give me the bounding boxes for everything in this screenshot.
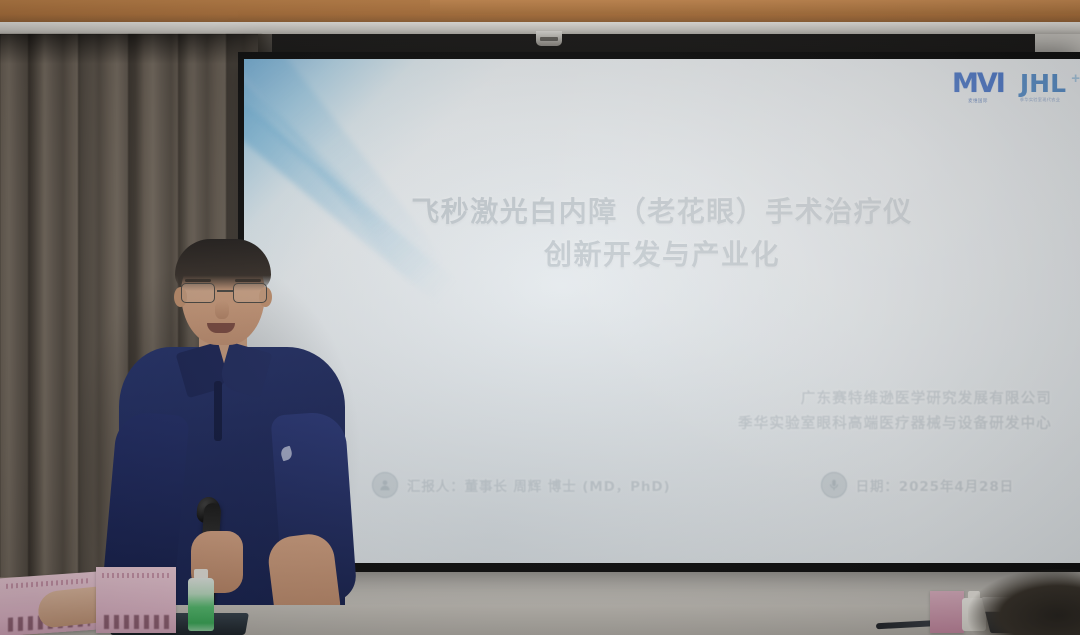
curtain-shadow	[0, 34, 262, 64]
mvi-logo: MVI 麦维国际	[952, 71, 1004, 104]
slide-logos: MVI 麦维国际 JHL 季华实验室现代农业	[952, 71, 1066, 104]
presenter-placket	[214, 381, 222, 441]
attendee-right	[968, 569, 1080, 635]
glasses-icon	[179, 283, 269, 303]
presenter-nose	[215, 301, 229, 319]
ceiling-sensor-icon	[536, 31, 562, 46]
jhl-logo: JHL 季华实验室现代农业	[1020, 71, 1066, 103]
conference-room: MVI 麦维国际 JHL 季华实验室现代农业 飞秒激光白内障（老花眼）手术治疗仪…	[0, 0, 1080, 635]
jhl-logo-sub: 季华实验室现代农业	[1020, 97, 1060, 103]
jhl-logo-mark: JHL	[1020, 71, 1066, 96]
presenter-brow-right	[235, 279, 261, 282]
date-label: 日期：2025年4月28日	[856, 475, 1014, 495]
presenter-label: 汇报人：董事长 周辉 博士 (MD，PhD)	[407, 475, 671, 495]
ceiling-wood-panel-right	[430, 0, 1080, 14]
mvi-logo-mark: MVI	[952, 71, 1004, 97]
organization-line-2: 季华实验室眼科高端医疗器械与设备研发中心	[738, 412, 1052, 437]
organization-line-1: 广东赛特维逊医学研究发展有限公司	[738, 387, 1052, 412]
foreground-table	[0, 563, 1080, 635]
slide-title-line-1: 飞秒激光白内障（老花眼）手术治疗仪	[244, 191, 1080, 234]
microphone-icon	[821, 472, 847, 498]
presenter-brow-left	[185, 279, 211, 282]
presenter-meta: 汇报人：董事长 周辉 博士 (MD，PhD)	[372, 472, 671, 498]
date-meta: 日期：2025年4月28日	[821, 472, 1014, 498]
slide-organization: 广东赛特维逊医学研究发展有限公司 季华实验室眼科高端医疗器械与设备研发中心	[738, 387, 1052, 438]
mvi-logo-sub: 麦维国际	[968, 98, 988, 104]
name-card	[930, 591, 964, 633]
water-bottle-green	[188, 569, 214, 631]
name-card	[96, 567, 176, 633]
